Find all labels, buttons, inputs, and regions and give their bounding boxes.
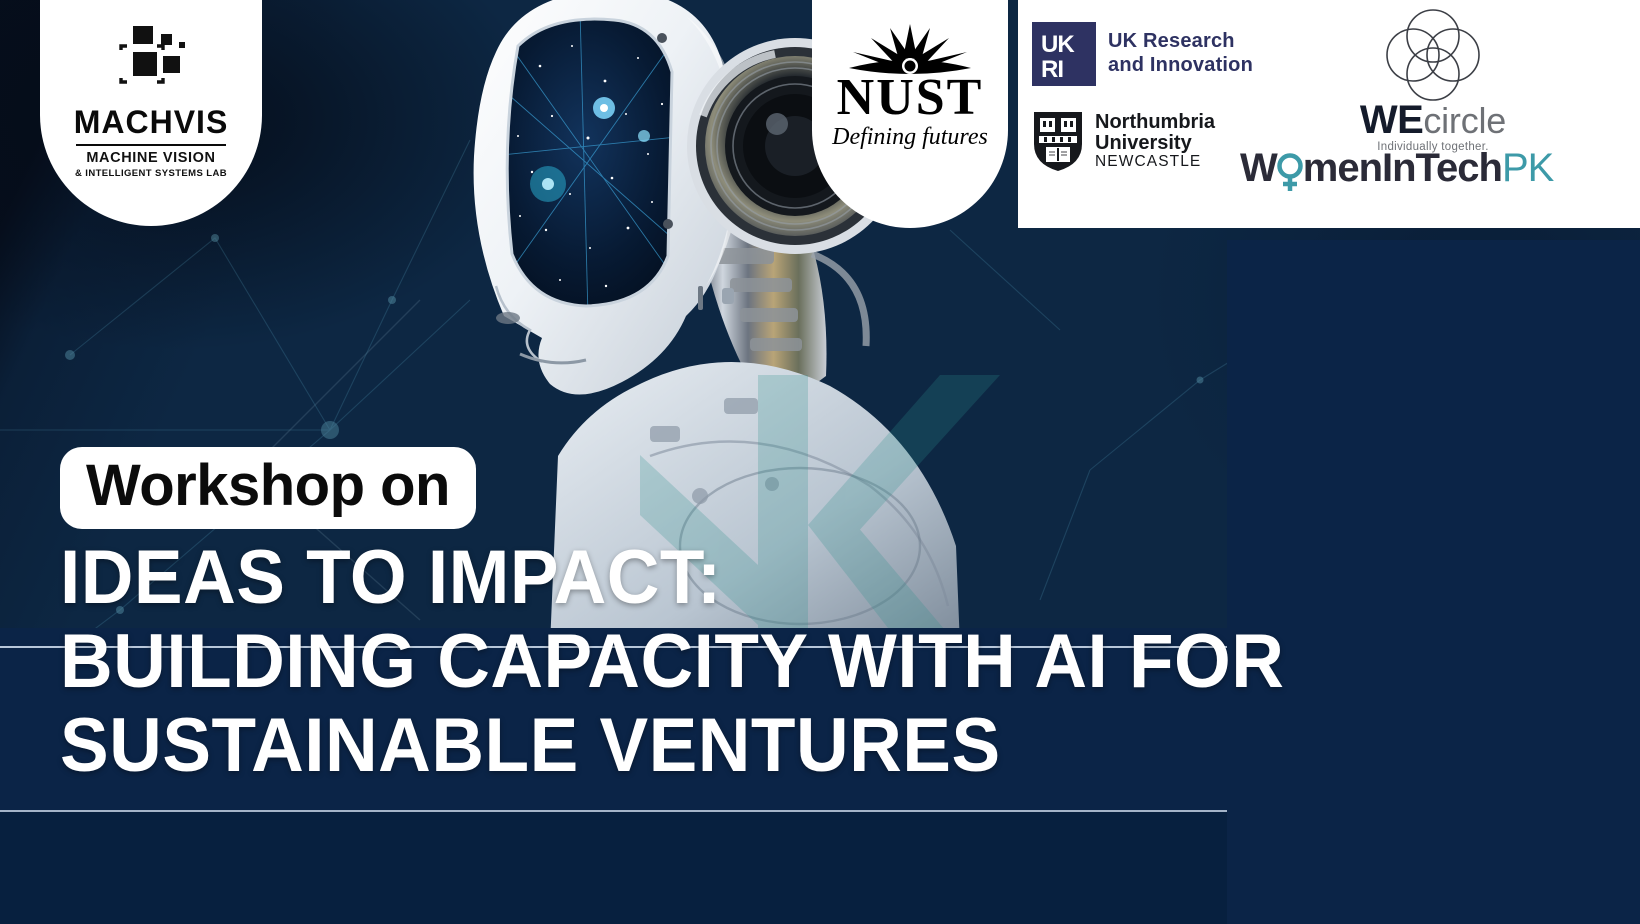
- womenintech-prefix: W: [1240, 148, 1277, 188]
- northumbria-wordmark: Northumbria University NEWCASTLE: [1095, 112, 1215, 171]
- eyebrow-pill: Workshop on: [60, 447, 476, 529]
- page-title: IDEAS TO IMPACT: BUILDING CAPACITY WITH …: [60, 536, 1480, 788]
- title-line-2: BUILDING CAPACITY WITH AI FOR: [60, 620, 1423, 704]
- ukri-line-1: UK Research: [1108, 30, 1253, 54]
- machvis-logo: MACHVIS MACHINE VISION & INTELLIGENT SYS…: [40, 14, 262, 204]
- northumbria-line-2: University: [1095, 133, 1215, 154]
- castle-shield-icon: [1032, 110, 1084, 172]
- venus-symbol-icon: [1275, 152, 1305, 192]
- ukri-line-2: and Innovation: [1108, 54, 1253, 78]
- ukri-logo: UK RI UK Research and Innovation: [1032, 22, 1253, 86]
- northumbria-logo: Northumbria University NEWCASTLE: [1032, 110, 1215, 172]
- ukri-square-icon: UK RI: [1032, 22, 1096, 86]
- womenintech-country: PK: [1502, 148, 1553, 188]
- womenintech-logo: W menInTech PK: [1240, 148, 1553, 188]
- pixel-squares-icon: [103, 24, 199, 96]
- northumbria-line-3: NEWCASTLE: [1095, 154, 1215, 170]
- nust-tagline: Defining futures: [832, 124, 988, 151]
- womenintech-suffix: menInTech: [1303, 148, 1502, 188]
- machvis-subtitle-1: MACHINE VISION: [86, 150, 215, 166]
- machvis-rule: [76, 144, 226, 146]
- poster: Workshop on IDEAS TO IMPACT: BUILDING CA…: [0, 0, 1640, 924]
- wecircle-we: WE: [1360, 98, 1423, 143]
- wecircle-wordmark: WE circle: [1360, 98, 1506, 143]
- nust-wordmark: NUST: [837, 74, 984, 122]
- machvis-wordmark: MACHVIS: [74, 104, 229, 141]
- svg-text:RI: RI: [1041, 56, 1063, 83]
- eyebrow-text: Workshop on: [86, 453, 450, 518]
- title-line-1: IDEAS TO IMPACT:: [60, 536, 1423, 620]
- northumbria-line-1: Northumbria: [1095, 112, 1215, 133]
- wecircle-circle: circle: [1423, 100, 1506, 142]
- title-line-3: SUSTAINABLE VENTURES: [60, 704, 1423, 788]
- ukri-wordmark: UK Research and Innovation: [1108, 30, 1253, 77]
- nust-logo: NUST Defining futures: [812, 22, 1008, 192]
- wecircle-logo: WE circle Individually together.: [1338, 8, 1528, 153]
- svg-text:UK: UK: [1041, 31, 1075, 58]
- machvis-subtitle-2: & INTELLIGENT SYSTEMS LAB: [75, 168, 227, 179]
- four-circles-icon: [1385, 8, 1481, 102]
